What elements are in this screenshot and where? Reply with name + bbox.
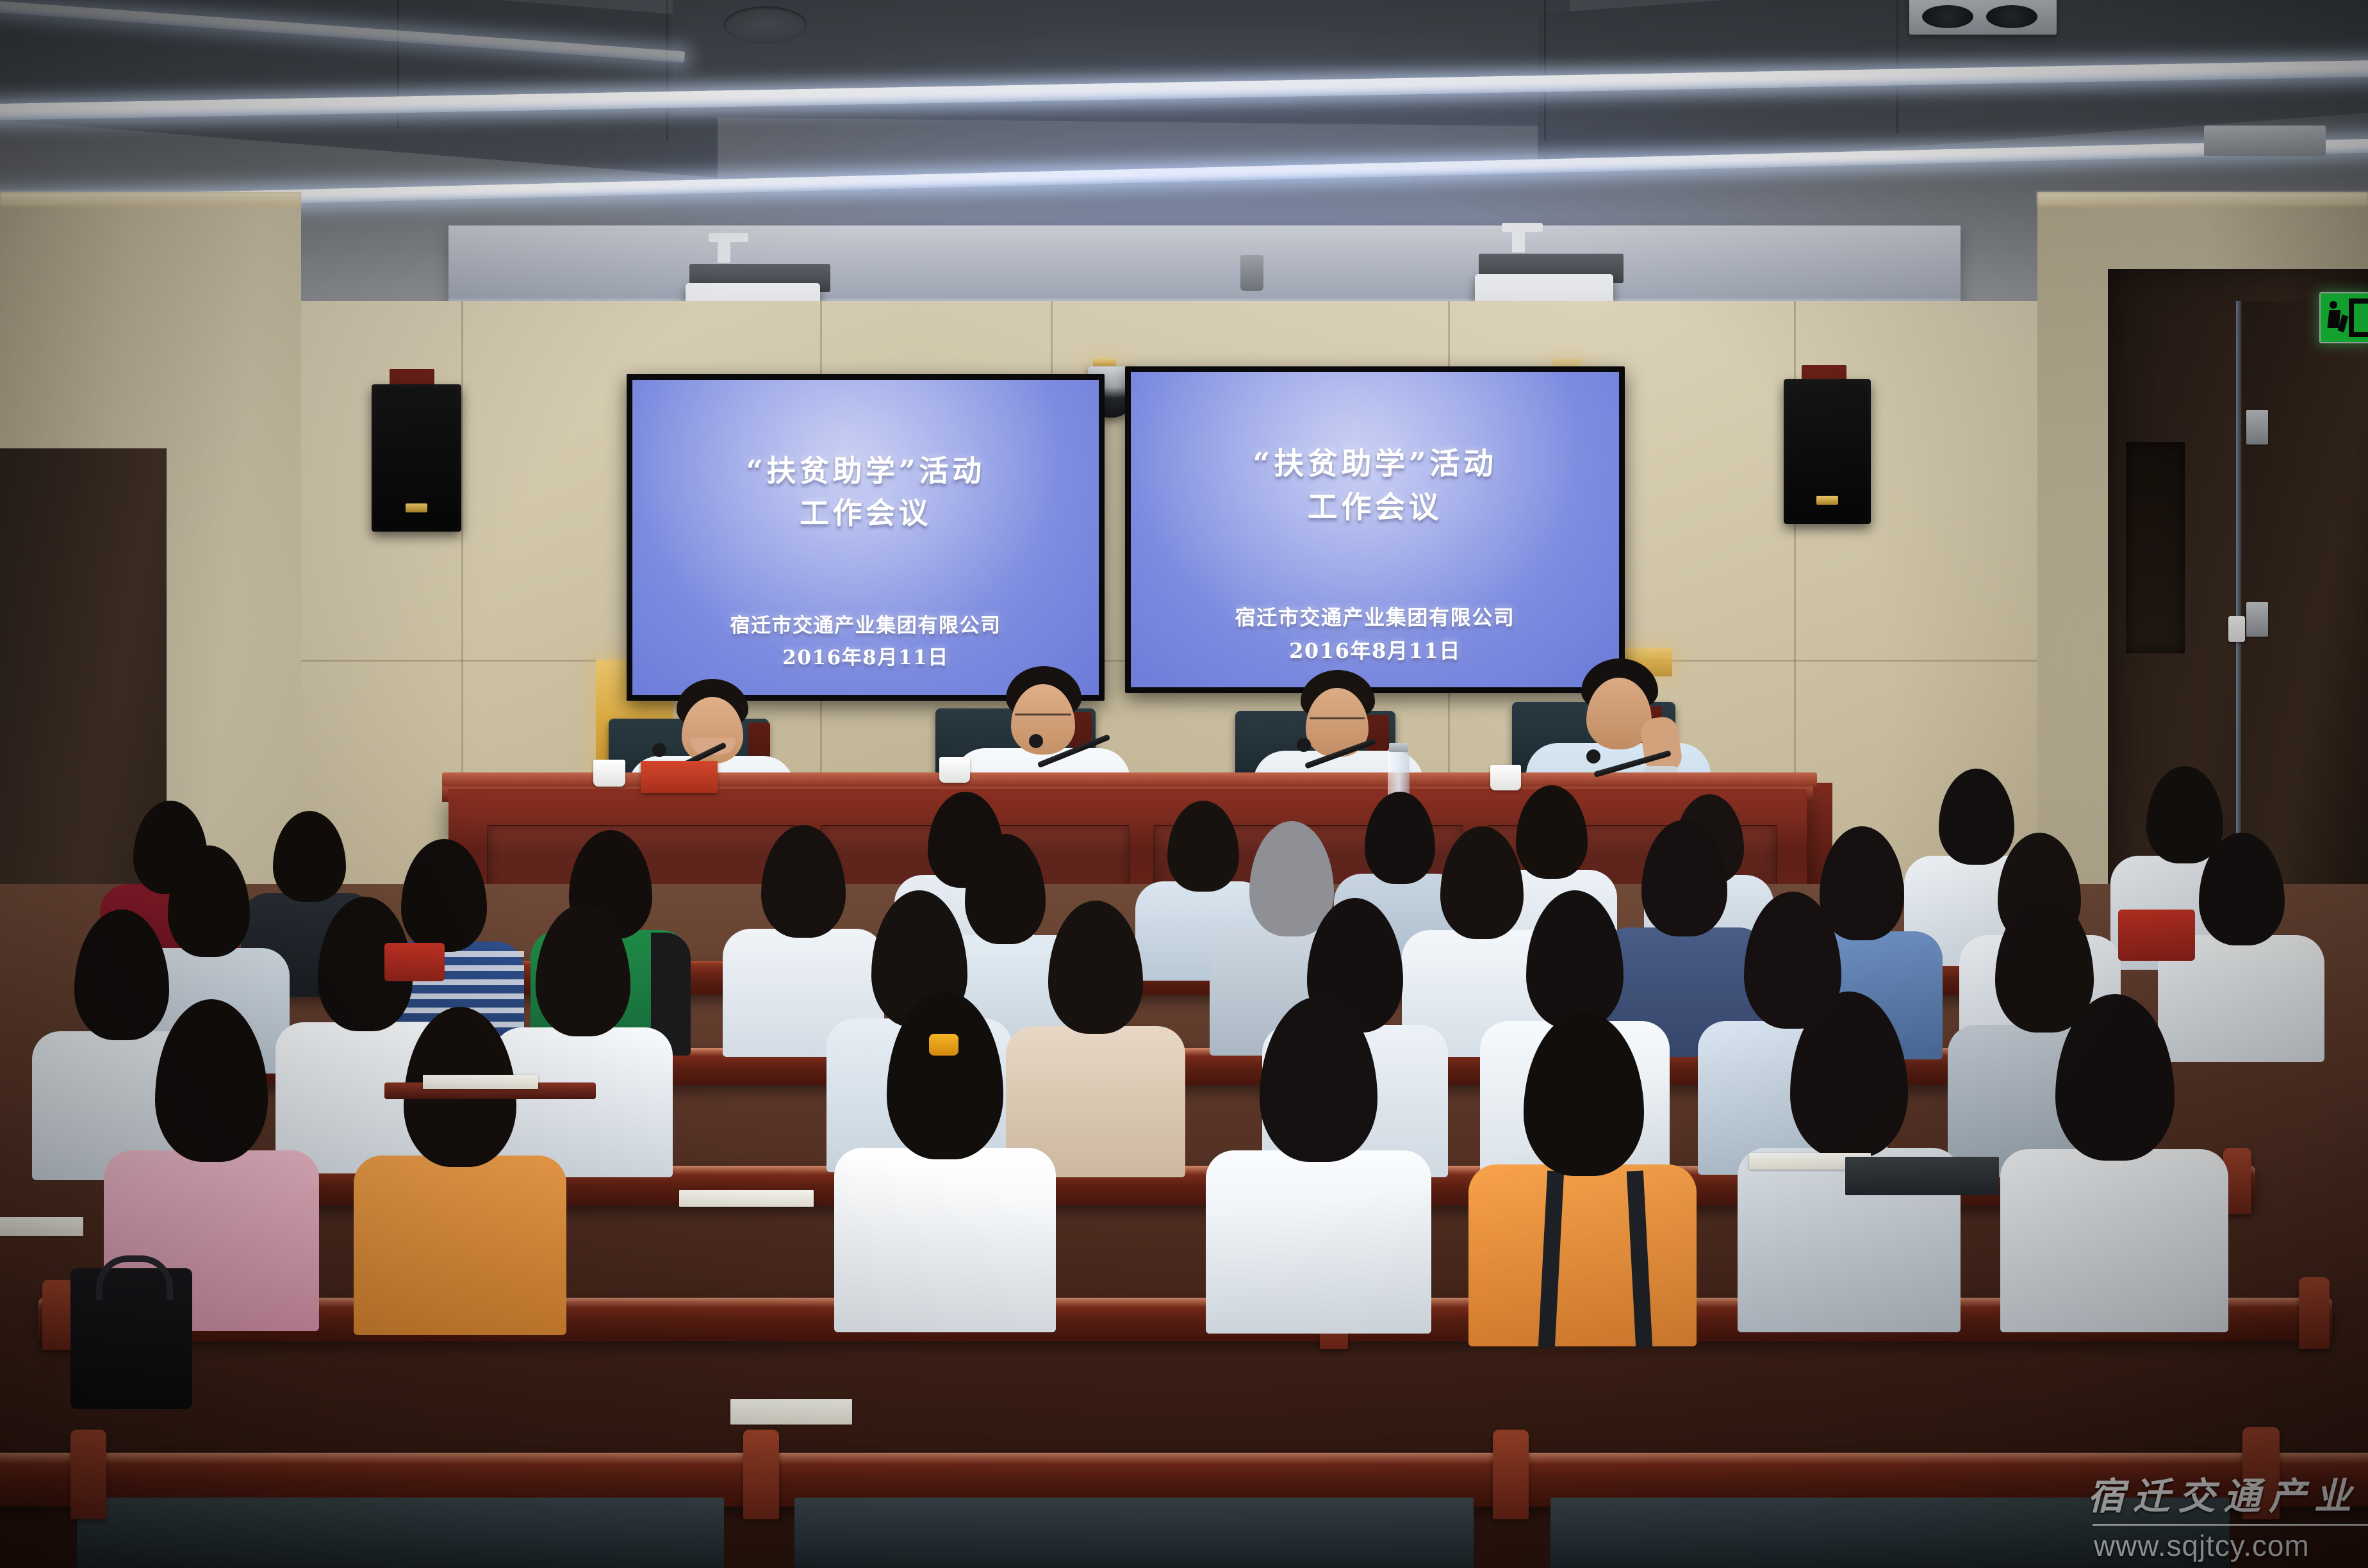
eyeglasses-icon (1015, 714, 1071, 723)
wall-recess (2126, 442, 2185, 653)
emergency-exit-sign (2319, 292, 2368, 343)
red-chair-back (384, 943, 445, 981)
watermark-url: www.sqjtcy.com (2094, 1528, 2368, 1563)
document-paper (679, 1190, 814, 1207)
microphone-head-icon (1586, 749, 1600, 764)
cove-light-right (2037, 192, 2368, 206)
bench-post (2299, 1277, 2330, 1349)
red-chair-back (2118, 910, 2195, 961)
eyeglasses-icon (1310, 717, 1365, 727)
bench-post (70, 1430, 106, 1519)
bench-post (1493, 1430, 1529, 1519)
screen-left-org: 宿迁市交通产业集团有限公司 (632, 609, 1099, 638)
screen-left-title-line2: 工作会议 (632, 490, 1099, 532)
conference-room-photo: “扶贫助学”活动 工作会议 宿迁市交通产业集团有限公司 2016年8月11日 “… (0, 0, 2368, 1568)
screen-right-title-line1: “扶贫助学”活动 (1131, 439, 1619, 483)
audience-person-d3 (826, 992, 1064, 1319)
audience-person-d2 (346, 1007, 574, 1323)
watermark-divider (2093, 1524, 2368, 1526)
ceiling-soffit (448, 225, 1961, 307)
laptop-device[interactable] (1845, 1157, 1999, 1195)
microphone-head-icon (652, 743, 666, 757)
bench-seat-cushion (77, 1498, 724, 1568)
teacup-2[interactable] (939, 757, 970, 783)
speaker-badge-icon (406, 503, 427, 512)
screen-right-org: 宿迁市交通产业集团有限公司 (1131, 601, 1619, 631)
smoke-detector-icon (1240, 255, 1263, 291)
watermark-company-name: 宿迁交通产业 (2087, 1466, 2368, 1520)
audience-person-d5 (1461, 1012, 1704, 1332)
audience-person-d4 (1198, 997, 1439, 1321)
wall-speaker-left (372, 384, 461, 532)
speaker-bracket-left (390, 369, 434, 386)
document-paper (423, 1075, 538, 1089)
document-paper (730, 1399, 852, 1425)
bench-post (743, 1430, 779, 1519)
projection-screen-right: “扶贫助学”活动 工作会议 宿迁市交通产业集团有限公司 2016年8月11日 (1125, 366, 1625, 693)
bench-post (42, 1280, 73, 1350)
wall-speaker-right (1784, 379, 1871, 524)
door-hinge-icon (2246, 410, 2268, 445)
ceiling-spot-fixture (2204, 126, 2326, 156)
watermark: 宿迁交通产业 www.sqjtcy.com (2087, 1466, 2368, 1563)
screen-right-title-line2: 工作会议 (1131, 482, 1619, 527)
speaker-badge-icon (1816, 496, 1838, 505)
audience-person-d7 (1993, 994, 2236, 1321)
bench-seat-cushion (794, 1498, 1474, 1568)
projection-screen-left: “扶贫助学”活动 工作会议 宿迁市交通产业集团有限公司 2016年8月11日 (627, 374, 1105, 701)
hair-tie-icon (929, 1034, 958, 1056)
microphone-head-icon (1297, 738, 1311, 752)
document-paper (0, 1217, 83, 1236)
teacup-1[interactable] (593, 760, 625, 787)
door-hinge-icon (2246, 602, 2268, 637)
light-switch[interactable] (2228, 616, 2245, 642)
bottle-cap-icon (1389, 743, 1408, 752)
red-folder[interactable] (641, 761, 718, 793)
cove-light-left (0, 192, 301, 206)
microphone-head-icon (1029, 734, 1043, 748)
screen-left-title-line1: “扶贫助学”活动 (632, 448, 1099, 490)
